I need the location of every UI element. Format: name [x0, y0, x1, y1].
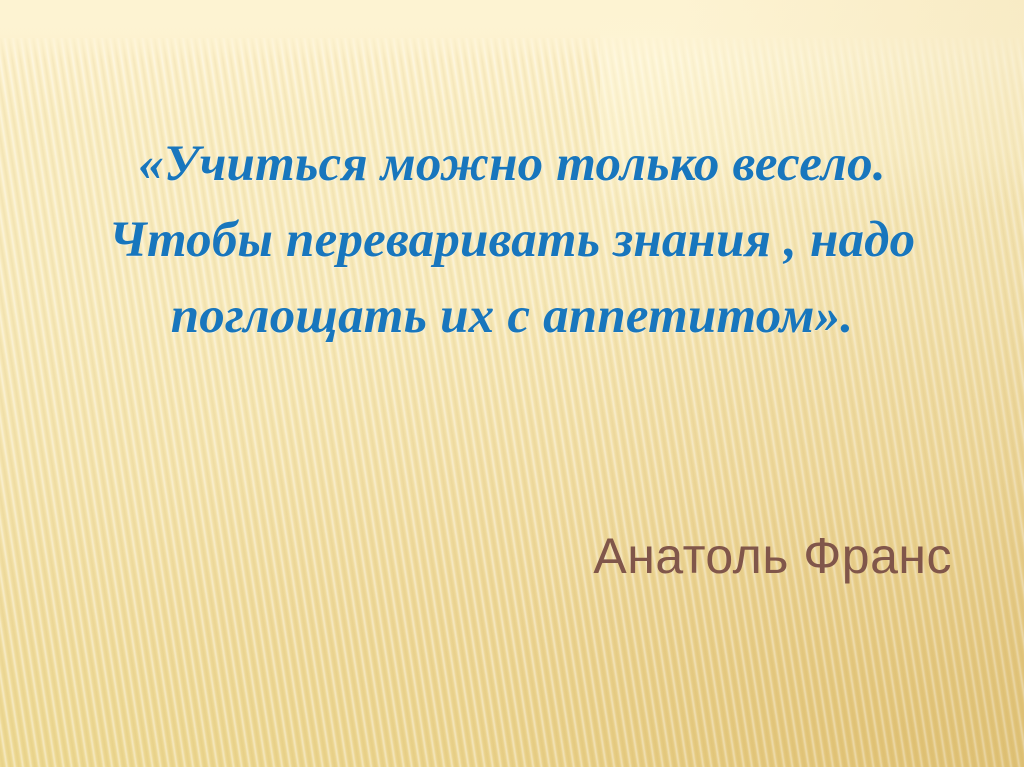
slide-content: «Учиться можно только весело. Чтобы пере…	[0, 0, 1024, 767]
presentation-slide: «Учиться можно только весело. Чтобы пере…	[0, 0, 1024, 767]
quote-text: «Учиться можно только весело. Чтобы пере…	[62, 126, 962, 354]
quote-attribution: Анатоль Франс	[0, 525, 952, 587]
